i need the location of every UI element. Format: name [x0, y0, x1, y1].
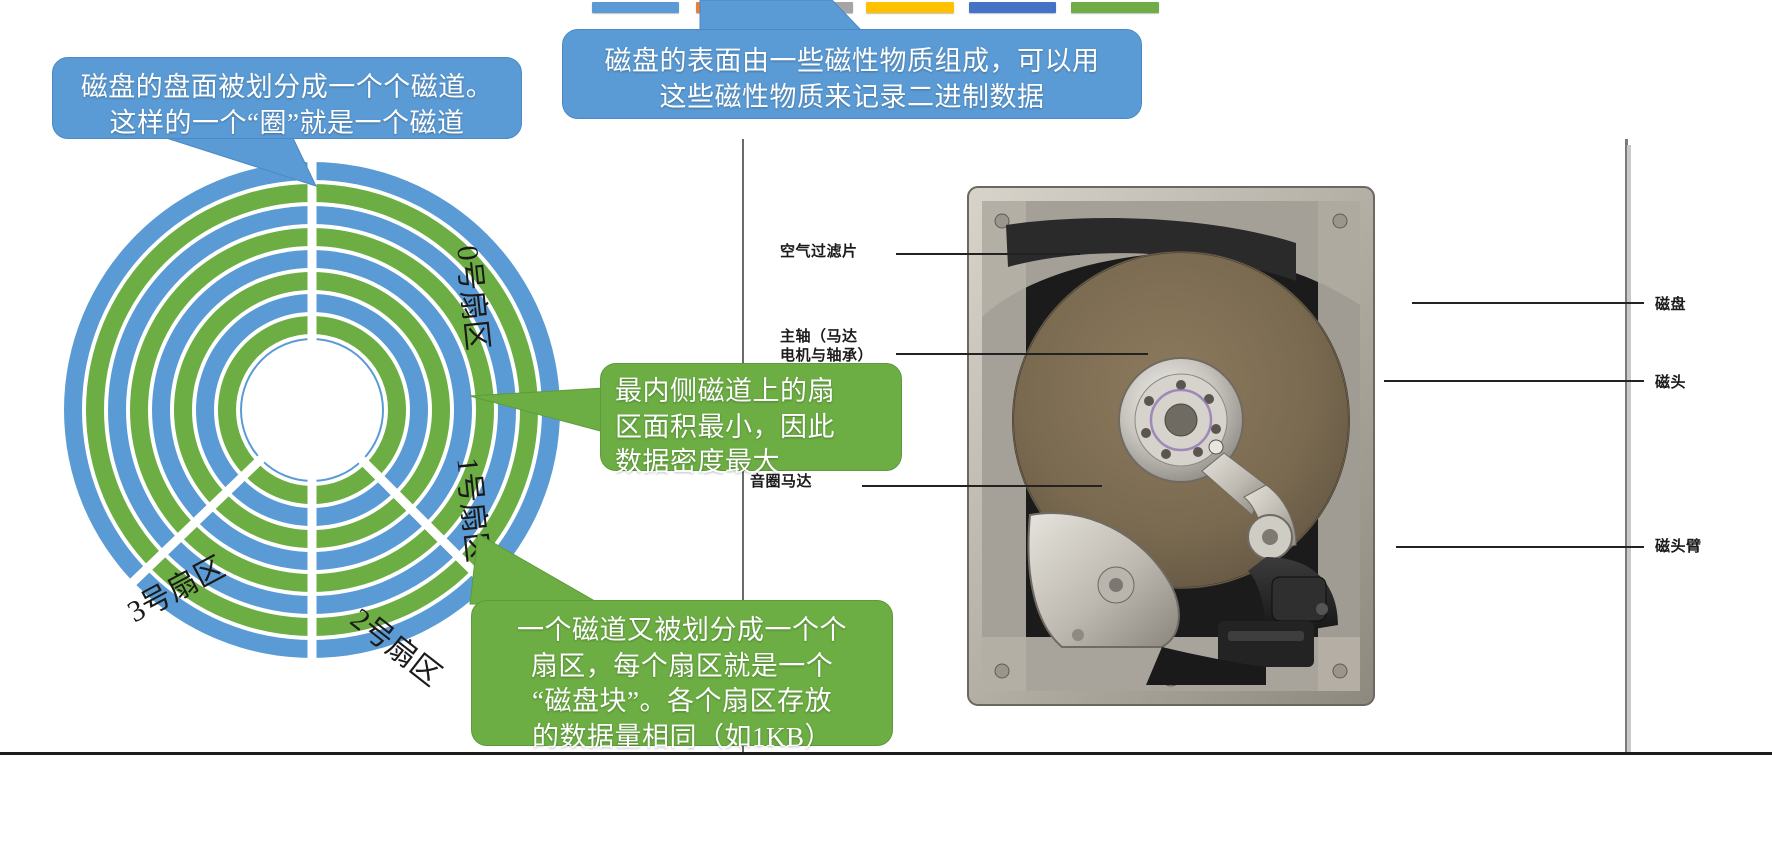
legend-strip — [0, 0, 1772, 16]
screw-bottom-right — [1333, 664, 1347, 678]
callout-sector-line-1: 一个磁道又被划分成一个个 — [486, 613, 878, 649]
latch-pivot-center — [1109, 578, 1123, 592]
legend-chip-blue-dark — [969, 2, 1056, 13]
callout-inner-track: 最内侧磁道上的扇 区面积最小，因此 数据密度最大 — [600, 363, 902, 471]
callout-sector: 一个磁道又被划分成一个个 扇区，每个扇区就是一个 “磁盘块”。各个扇区存放 的数… — [471, 600, 893, 746]
flex-connector-pins — [1228, 631, 1304, 641]
hdd-label-air-filter: 空气过滤片 — [780, 240, 858, 261]
leader-head — [1384, 380, 1644, 382]
vcm-magnet — [1272, 577, 1326, 621]
hdd-label-head: 磁头 — [1655, 371, 1686, 392]
legend-chip-blue-light — [592, 2, 679, 13]
hdd-label-spindle: 主轴（马达 电机与轴承） — [780, 328, 873, 366]
legend-chip-orange — [696, 2, 751, 13]
hdd-label-arm: 磁头臂 — [1655, 535, 1702, 556]
callout-sector-line-4: 的数据量相同（如1KB） — [486, 720, 878, 756]
callout-sector-line-3: “磁盘块”。各个扇区存放 — [486, 684, 878, 720]
legend-chip-green — [1071, 2, 1159, 13]
hdd-label-platter: 磁盘 — [1655, 293, 1686, 314]
arm-pivot-center — [1262, 529, 1278, 545]
leader-arm — [1396, 546, 1644, 548]
screw-bottom-left — [995, 664, 1009, 678]
hard-disk-photo — [966, 185, 1376, 707]
callout-surface-line-1: 磁盘的表面由一些磁性物质组成，可以用 — [581, 44, 1123, 80]
slide-canvas: 0号扇区 1号扇区 2号扇区 3号扇区 — [0, 0, 1772, 860]
read-write-head — [1209, 440, 1223, 454]
slide-bottom-area — [0, 755, 1772, 860]
leader-coil — [862, 485, 1102, 487]
panel-shadow-edge — [1627, 145, 1631, 757]
callout-sector-line-2: 扇区，每个扇区就是一个 — [486, 649, 878, 685]
callout-surface-line-2: 这些磁性物质来记录二进制数据 — [581, 80, 1123, 116]
latch-screw — [1072, 629, 1084, 641]
leader-spindle — [896, 353, 1148, 355]
callout-inner-line-1: 最内侧磁道上的扇 — [615, 374, 887, 410]
callout-inner-line-3: 数据密度最大 — [615, 445, 887, 481]
callout-track-line-2: 这样的一个“圈”就是一个磁道 — [63, 106, 511, 142]
leader-platter — [1412, 302, 1644, 304]
spindle-center — [1165, 404, 1197, 436]
callout-surface: 磁盘的表面由一些磁性物质组成，可以用 这些磁性物质来记录二进制数据 — [562, 29, 1142, 119]
callout-track: 磁盘的盘面被划分成一个个磁道。 这样的一个“圈”就是一个磁道 — [52, 57, 522, 139]
screw-top-right — [1333, 214, 1347, 228]
flex-connector — [1218, 621, 1314, 667]
leader-air-filter — [896, 253, 1080, 255]
callout-inner-line-2: 区面积最小，因此 — [615, 410, 887, 446]
callout-track-line-1: 磁盘的盘面被划分成一个个磁道。 — [63, 70, 511, 106]
legend-chip-gray — [764, 2, 853, 13]
legend-chip-yellow — [866, 2, 954, 13]
vcm-screw — [1316, 603, 1328, 615]
